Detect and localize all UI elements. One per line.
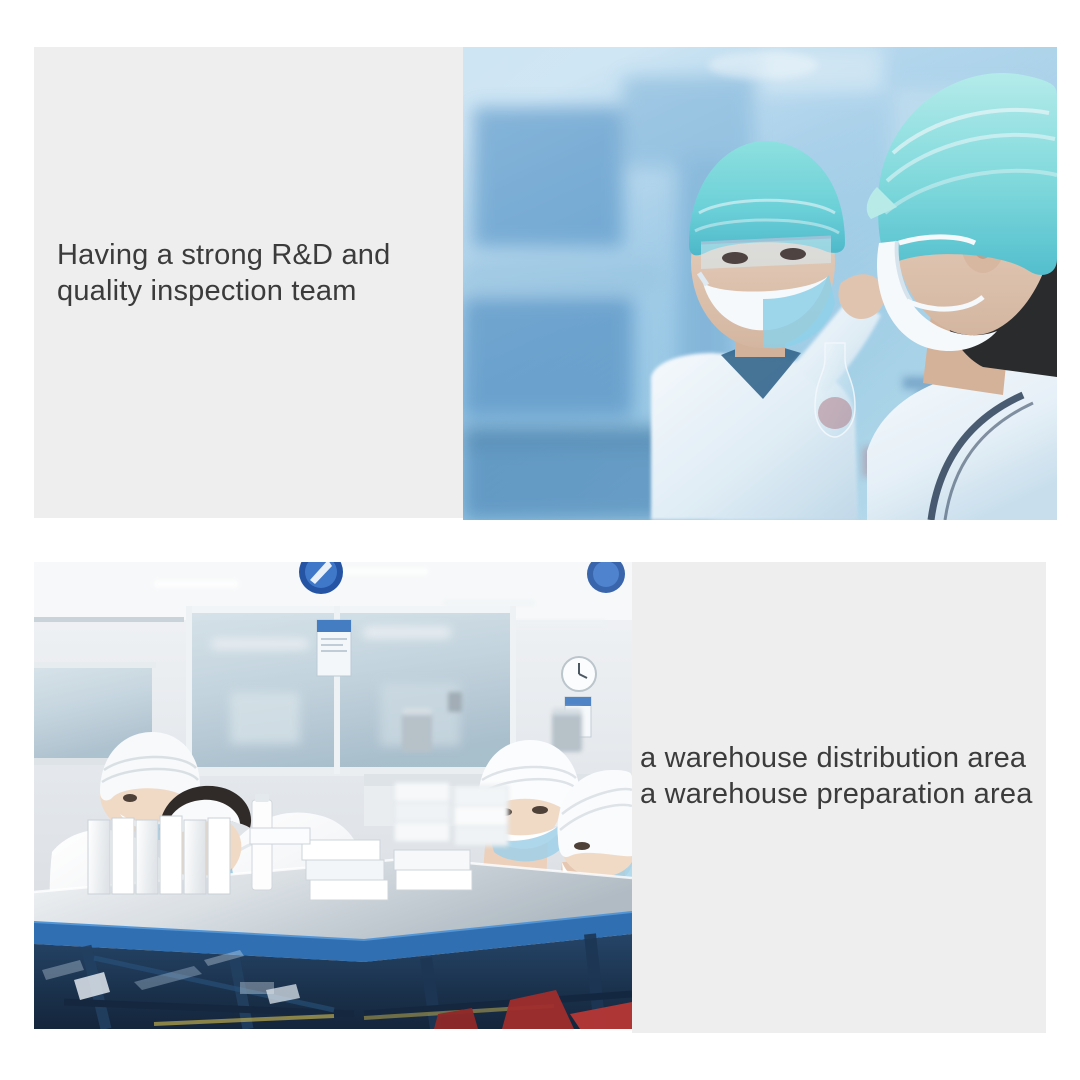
warehouse-caption: a warehouse distribution area a warehous… <box>640 740 1050 812</box>
lab-technicians-photo <box>463 47 1057 520</box>
warehouse-section: a warehouse distribution area a warehous… <box>34 562 1046 1033</box>
rd-quality-section: Having a strong R&D and quality inspecti… <box>34 47 1057 520</box>
lab-technicians-illustration <box>463 47 1057 520</box>
poster-page: Having a strong R&D and quality inspecti… <box>0 0 1080 1080</box>
rd-quality-caption: Having a strong R&D and quality inspecti… <box>57 237 457 309</box>
warehouse-packing-illustration <box>34 562 632 1029</box>
warehouse-packing-photo <box>34 562 632 1029</box>
